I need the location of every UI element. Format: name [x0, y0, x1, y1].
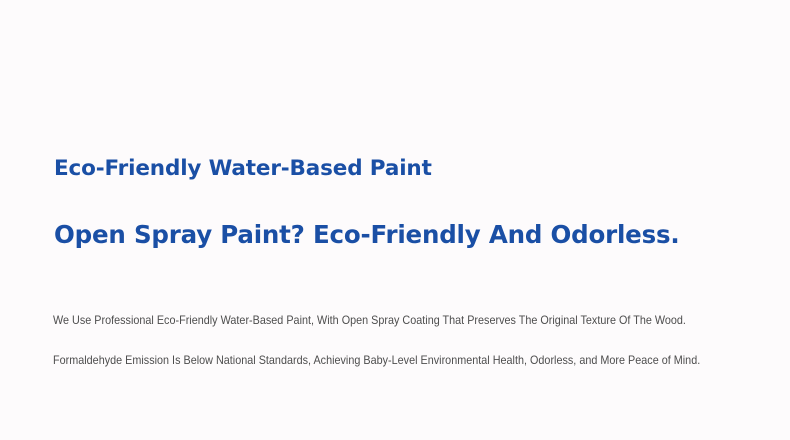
description-line-1: We Use Professional Eco-Friendly Water-B… [53, 313, 686, 328]
page-title: Eco-Friendly Water-Based Paint [54, 156, 432, 182]
description-line-2: Formaldehyde Emission Is Below National … [53, 353, 700, 368]
product-feature-banner: Eco-Friendly Water-Based Paint Open Spra… [0, 0, 790, 440]
page-subtitle: Open Spray Paint? Eco-Friendly And Odorl… [54, 220, 679, 249]
